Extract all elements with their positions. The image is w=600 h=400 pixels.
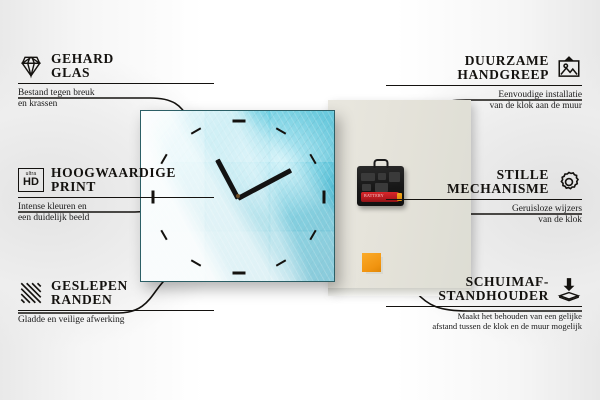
feature-desc-line2: een duidelijk beeld: [18, 213, 214, 224]
feature-desc-line2: en krassen: [18, 99, 214, 110]
feature-desc-line1: Eenvoudige installatie: [386, 90, 582, 101]
mechanism-detail: [362, 184, 371, 191]
feature-desc-line1: Intense kleuren en: [18, 202, 214, 213]
ultra-hd-badge-bottom: HD: [23, 177, 39, 188]
clock-center-pin: [236, 194, 240, 198]
feature-divider: [386, 199, 582, 200]
clock-tick: [323, 191, 326, 204]
bevelled-edges-icon: [18, 280, 44, 306]
foam-spacer: [362, 253, 381, 272]
feature-divider: [18, 310, 214, 311]
picture-hanger-icon: [556, 55, 582, 81]
feature-desc-line2: van de klok: [386, 215, 582, 226]
infographic-stage: BATTERY GEHARD GLAS: [0, 0, 600, 400]
hanger-hook-icon: [373, 159, 388, 168]
feature-divider: [18, 83, 214, 84]
feature-geslepen-randen: GESLEPEN RANDEN Gladde en veilige afwerk…: [18, 279, 214, 326]
feature-title-line2: HANDGREEP: [457, 68, 549, 82]
feature-desc-line1: Bestand tegen breuk: [18, 88, 214, 99]
diamond-icon: [18, 53, 44, 79]
feature-title-line1: GESLEPEN: [51, 279, 128, 293]
mechanism-detail: [361, 173, 375, 181]
feature-schuimafstandhouder: SCHUIMAF- STANDHOUDER Maakt het behouden…: [386, 275, 582, 331]
feature-gehard-glas: GEHARD GLAS Bestand tegen breuk en krass…: [18, 52, 214, 110]
feature-title-line1: HOOGWAARDIGE: [51, 166, 176, 180]
feature-stille-mechanisme: STILLE MECHANISME Geruisloze wijzers van…: [386, 168, 582, 226]
gear-icon: [556, 169, 582, 195]
feature-title-line2: GLAS: [51, 66, 114, 80]
clock-tick: [232, 271, 245, 274]
feature-hoogwaardige-print: ultra HD HOOGWAARDIGE PRINT Intense kleu…: [18, 166, 214, 224]
feature-divider: [386, 306, 582, 307]
feature-title-line1: GEHARD: [51, 52, 114, 66]
feature-desc-line2: van de klok aan de muur: [386, 101, 582, 112]
feature-divider: [18, 197, 214, 198]
feature-title-line2: STANDHOUDER: [438, 289, 549, 303]
battery-label: BATTERY: [364, 193, 384, 198]
feature-desc-line2: afstand tussen de klok en de muur mogeli…: [386, 321, 582, 331]
feature-title-line1: SCHUIMAF-: [438, 275, 549, 289]
feature-title-line2: MECHANISME: [447, 182, 549, 196]
feature-divider: [386, 85, 582, 86]
feature-title-line2: RANDEN: [51, 293, 128, 307]
feature-title-line1: DUURZAME: [457, 54, 549, 68]
clock-tick: [232, 120, 245, 123]
feature-title-line1: STILLE: [447, 168, 549, 182]
ultra-hd-icon: ultra HD: [18, 168, 44, 192]
feature-desc-line1: Geruisloze wijzers: [386, 204, 582, 215]
feature-desc-line1: Maakt het behouden van een gelijke: [386, 311, 582, 321]
mechanism-detail: [378, 173, 386, 180]
feature-desc-line1: Gladde en veilige afwerking: [18, 315, 214, 326]
foam-spacer-icon: [556, 276, 582, 302]
feature-duurzame-handgreep: DUURZAME HANDGREEP Eenvoudige installati…: [386, 54, 582, 112]
feature-title-line2: PRINT: [51, 180, 176, 194]
